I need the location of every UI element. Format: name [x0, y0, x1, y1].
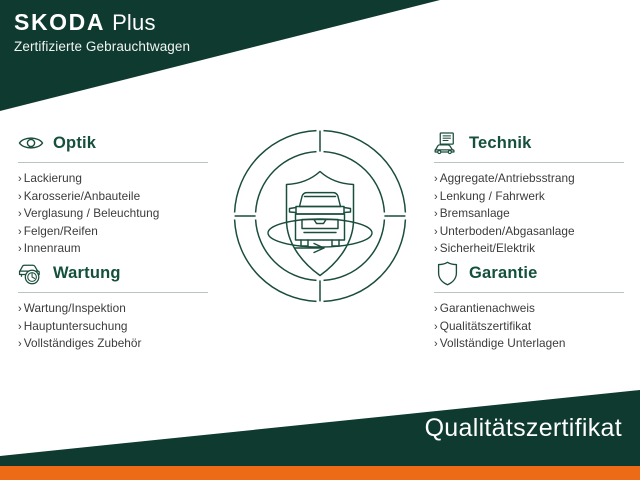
chevron-right-icon: ›: [18, 173, 22, 185]
document-car-icon: [434, 130, 460, 156]
list-item-label: Aggregate/Antriebsstrang: [440, 171, 575, 185]
chevron-right-icon: ›: [434, 208, 438, 220]
section-optik-title: Optik: [53, 134, 96, 153]
section-technik-list: ›Aggregate/Antriebsstrang ›Lenkung / Fah…: [434, 170, 630, 258]
section-optik: Optik ›Lackierung ›Karosserie/Anbauteile…: [18, 128, 214, 258]
list-item-label: Garantienachweis: [440, 301, 535, 315]
accent-bar: [0, 466, 640, 480]
list-item: ›Aggregate/Antriebsstrang: [434, 170, 630, 188]
brand-tagline: Zertifizierte Gebrauchtwagen: [14, 40, 190, 54]
chevron-right-icon: ›: [434, 191, 438, 203]
list-item-label: Lenkung / Fahrwerk: [440, 189, 545, 203]
list-item: ›Vollständige Unterlagen: [434, 335, 630, 353]
list-item: ›Innenraum: [18, 240, 214, 258]
chevron-right-icon: ›: [18, 303, 22, 315]
skoda-wordmark: SKODA: [14, 11, 105, 34]
section-garantie-divider: [434, 292, 624, 293]
list-item-label: Qualitätszertifikat: [440, 319, 531, 333]
chevron-right-icon: ›: [434, 226, 438, 238]
car-clock-icon: [18, 260, 44, 286]
car-shield-360-emblem: [232, 128, 408, 304]
chevron-right-icon: ›: [18, 321, 22, 333]
section-garantie-list: ›Garantienachweis ›Qualitätszertifikat ›…: [434, 300, 630, 353]
eye-icon: [18, 130, 44, 156]
list-item-label: Innenraum: [24, 241, 81, 255]
list-item: ›Garantienachweis: [434, 300, 630, 318]
list-item-label: Felgen/Reifen: [24, 224, 98, 238]
list-item: ›Lackierung: [18, 170, 214, 188]
section-optik-divider: [18, 162, 208, 163]
section-technik-divider: [434, 162, 624, 163]
list-item: ›Qualitätszertifikat: [434, 318, 630, 336]
certificate-infographic: SKODA Plus Zertifizierte Gebrauchtwagen …: [0, 0, 640, 480]
section-technik: Technik ›Aggregate/Antriebsstrang ›Lenku…: [434, 128, 630, 258]
section-technik-title: Technik: [469, 134, 532, 153]
list-item-label: Bremsanlage: [440, 206, 510, 220]
brand-suffix: Plus: [112, 12, 156, 34]
section-wartung-header: Wartung: [18, 258, 214, 288]
chevron-right-icon: ›: [18, 191, 22, 203]
list-item-label: Lackierung: [24, 171, 82, 185]
footer-title: Qualitätszertifikat: [425, 414, 622, 443]
section-wartung-divider: [18, 292, 208, 293]
list-item: ›Verglasung / Beleuchtung: [18, 205, 214, 223]
chevron-right-icon: ›: [18, 226, 22, 238]
chevron-right-icon: ›: [434, 321, 438, 333]
list-item-label: Sicherheit/Elektrik: [440, 241, 535, 255]
chevron-right-icon: ›: [434, 243, 438, 255]
list-item-label: Hauptuntersuchung: [24, 319, 128, 333]
section-technik-header: Technik: [434, 128, 630, 158]
list-item: ›Bremsanlage: [434, 205, 630, 223]
chevron-right-icon: ›: [18, 208, 22, 220]
chevron-right-icon: ›: [434, 303, 438, 315]
list-item: ›Felgen/Reifen: [18, 223, 214, 241]
section-wartung-title: Wartung: [53, 264, 121, 283]
section-wartung-list: ›Wartung/Inspektion ›Hauptuntersuchung ›…: [18, 300, 214, 353]
brand-wordmark-row: SKODA Plus: [14, 11, 190, 34]
list-item: ›Sicherheit/Elektrik: [434, 240, 630, 258]
list-item-label: Verglasung / Beleuchtung: [24, 206, 160, 220]
section-optik-list: ›Lackierung ›Karosserie/Anbauteile ›Verg…: [18, 170, 214, 258]
list-item: ›Wartung/Inspektion: [18, 300, 214, 318]
chevron-right-icon: ›: [434, 338, 438, 350]
chevron-right-icon: ›: [18, 243, 22, 255]
list-item: ›Hauptuntersuchung: [18, 318, 214, 336]
list-item-label: Karosserie/Anbauteile: [24, 189, 140, 203]
list-item: ›Lenkung / Fahrwerk: [434, 188, 630, 206]
list-item: ›Karosserie/Anbauteile: [18, 188, 214, 206]
brand-lockup: SKODA Plus Zertifizierte Gebrauchtwagen: [14, 11, 190, 54]
chevron-right-icon: ›: [434, 173, 438, 185]
section-optik-header: Optik: [18, 128, 214, 158]
list-item-label: Vollständige Unterlagen: [440, 336, 566, 350]
list-item-label: Wartung/Inspektion: [24, 301, 126, 315]
section-garantie-header: Garantie: [434, 258, 630, 288]
shield-icon: [434, 260, 460, 286]
list-item-label: Vollständiges Zubehör: [24, 336, 142, 350]
section-garantie-title: Garantie: [469, 264, 538, 283]
section-wartung: Wartung ›Wartung/Inspektion ›Hauptunters…: [18, 258, 214, 353]
list-item: ›Vollständiges Zubehör: [18, 335, 214, 353]
list-item-label: Unterboden/Abgasanlage: [440, 224, 575, 238]
section-garantie: Garantie ›Garantienachweis ›Qualitätszer…: [434, 258, 630, 353]
list-item: ›Unterboden/Abgasanlage: [434, 223, 630, 241]
chevron-right-icon: ›: [18, 338, 22, 350]
